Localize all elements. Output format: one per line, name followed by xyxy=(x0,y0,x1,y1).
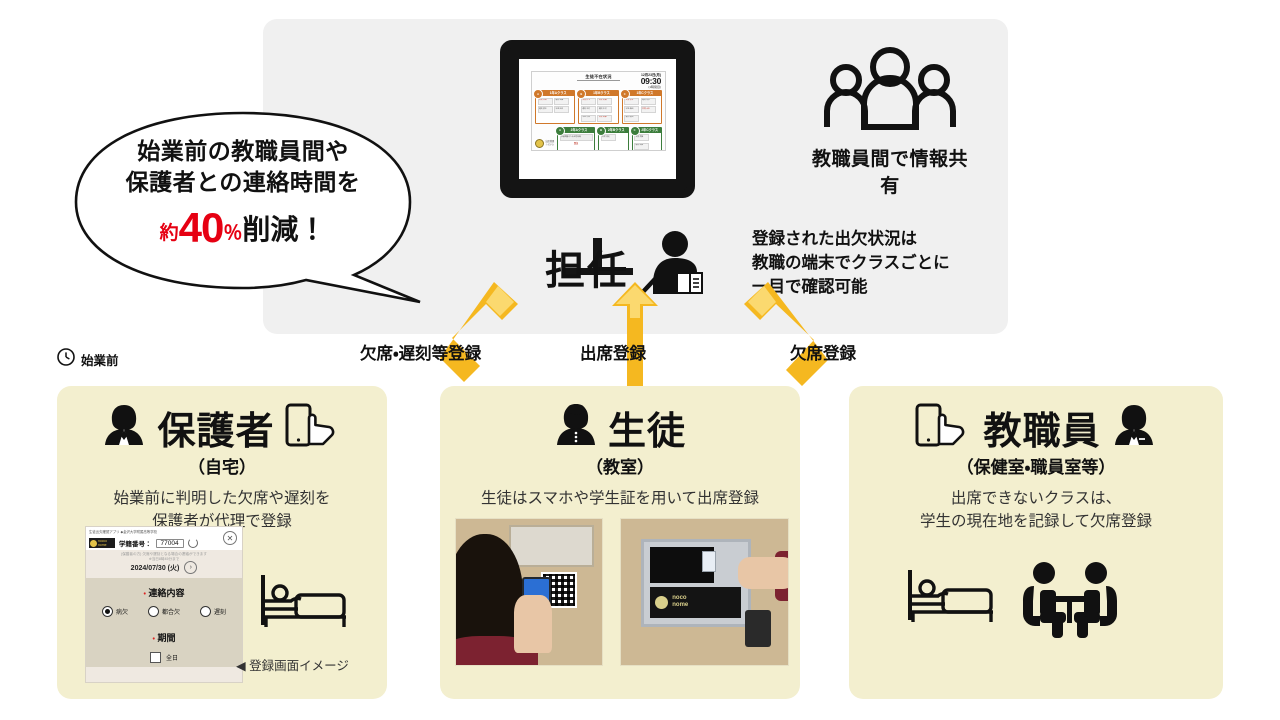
app-date-value[interactable]: 2024/07/30 (火) xyxy=(131,563,180,573)
staff-subtitle: （保健室・職員室等） xyxy=(849,453,1223,478)
phone-tap-icon-staff xyxy=(915,403,973,452)
checkbox-allday-icon[interactable] xyxy=(150,652,161,663)
staff-group-label: 教職員間で情報共有 xyxy=(810,144,970,198)
photo-card-reader: noco nome xyxy=(620,518,789,666)
student-status-chip[interactable]: 欠席 高橋 xyxy=(597,98,612,105)
photo-arm xyxy=(738,557,789,589)
monitor-illustration: 生徒不在状況 12月23日(月) 09:30 (1時間目) A1年Aクラス欠席 … xyxy=(500,40,695,198)
student-status-chip[interactable]: 遅刻 中村 xyxy=(597,106,612,113)
meeting-icon xyxy=(1018,560,1122,645)
student-status-chip[interactable]: 欠席 山本 xyxy=(641,106,656,113)
class-panel[interactable]: A1年Aクラス欠席 山田遅刻 佐藤遅刻 鈴木早退 田中 xyxy=(535,90,575,124)
guardian-title: 保護者 xyxy=(157,400,274,455)
class-panel[interactable]: C2年Cクラス欠席 斎藤遅刻 岡田早退 石川欠席 藤田遅刻 山口 xyxy=(632,127,663,152)
app-title: 生徒出欠確認アプリ ◆金沢大学附属高等学校 xyxy=(89,529,239,534)
refresh-icon[interactable] xyxy=(188,538,198,548)
pre-class-label: 始業前 xyxy=(81,350,119,369)
speech-bubble-text: 始業前の教職員間や 保護者との連絡時間を 約40％削減！ xyxy=(86,136,400,252)
photo-reader-panel: noco nome xyxy=(641,539,751,627)
app-logo-icon xyxy=(535,139,544,148)
class-panel[interactable]: A2年Aクラス学級閉鎖のため自宅待機至急 xyxy=(557,127,595,152)
student-status-chip[interactable]: 早退 田中 xyxy=(554,106,569,113)
student-avatar-icon xyxy=(554,402,598,453)
reader-logo-mark-icon xyxy=(655,596,668,609)
student-status-chip[interactable]: 遅刻 佐藤 xyxy=(554,98,569,105)
class-alert-note: 至急 xyxy=(560,141,593,145)
class-panel[interactable]: B2年Bクラス欠席 渡辺 xyxy=(598,127,629,152)
guardian-subtitle: （自宅） xyxy=(57,453,387,478)
photo-hand xyxy=(514,595,552,653)
chevron-right-icon[interactable]: › xyxy=(184,561,197,574)
guardian-caption: ◀ 登録画面イメージ xyxy=(236,655,349,674)
student-status-chip[interactable]: 欠席 加藤 xyxy=(597,115,612,122)
required-star-icon: • xyxy=(144,591,146,598)
staff-avatar-icon xyxy=(1111,402,1157,453)
class-badge: A xyxy=(555,126,565,136)
bubble-number: 40 xyxy=(179,204,224,251)
student-status-chip[interactable]: 遅刻 岡田 xyxy=(634,143,649,150)
guardian-card-header: 保護者 xyxy=(57,400,387,455)
period-title: • 期間 xyxy=(86,631,242,644)
student-id-input[interactable]: 77004 xyxy=(156,539,184,548)
student-card-header: 生徒 xyxy=(440,400,800,455)
class-student-list: 欠席 松本遅刻 清水早退 森田欠席 山本遅刻 池田 xyxy=(623,96,661,123)
student-title: 生徒 xyxy=(608,400,686,455)
staff-group-block: 教職員間で情報共有 xyxy=(810,47,970,198)
attendance-dashboard: 生徒不在状況 12月23日(月) 09:30 (1時間目) A1年Aクラス欠席 … xyxy=(531,71,666,151)
bubble-suffix: 削減！ xyxy=(242,214,326,245)
option-late[interactable]: 遅刻 xyxy=(200,606,226,617)
student-subtitle: （教室） xyxy=(440,453,800,478)
student-id-label: 学籍番号： xyxy=(119,538,152,548)
arrow-guardian-label: 欠席・遅刻等登録 xyxy=(360,340,481,364)
checkbox-allday-label: 全日 xyxy=(166,653,178,662)
dashboard-footer-logo: 出席管理 システム xyxy=(535,139,554,148)
bed-icon xyxy=(258,573,350,636)
option-personal[interactable]: 都合欠 xyxy=(148,606,180,617)
bed-icon-staff xyxy=(905,568,997,631)
app-logo: nocco nome xyxy=(89,538,115,548)
class-panel[interactable]: B1年Bクラス欠席 井上欠席 高橋遅刻 木村遅刻 中村早退 小林欠席 加藤 xyxy=(578,90,618,124)
app-logo-mark-icon xyxy=(90,540,97,547)
contact-reason-options: 病欠 都合欠 遅刻 xyxy=(86,606,242,617)
pre-class-indicator: 始業前 xyxy=(57,348,119,371)
radio-sick-icon[interactable] xyxy=(102,606,113,617)
student-status-chip[interactable]: 遅刻 清水 xyxy=(641,98,656,105)
staff-title: 教職員 xyxy=(983,400,1100,455)
arrow-staff-label: 欠席登録 xyxy=(790,340,856,364)
student-description: 生徒はスマホや学生証を用いて出席登録 xyxy=(440,487,800,510)
student-status-chip[interactable]: 早退 小林 xyxy=(581,115,596,122)
close-icon[interactable]: ✕ xyxy=(223,531,237,545)
photo-wall-scanner xyxy=(745,610,772,648)
photo-qr-scan xyxy=(455,518,603,666)
app-note: (保護者の方) 欠席や遅刻となる場合の連絡ができます ※当日8時45分まで xyxy=(86,550,242,561)
class-student-list: 学級閉鎖のため自宅待機至急 xyxy=(558,133,594,152)
class-badge: A xyxy=(533,89,543,99)
app-date-row: 2024/07/30 (火) › xyxy=(86,561,242,578)
staff-description: 出席できないクラスは、 学生の現在地を記録して欠席登録 xyxy=(849,487,1223,534)
guardian-avatar-icon xyxy=(101,402,147,453)
dashboard-title: 生徒不在状況 xyxy=(577,74,619,81)
app-id-row: nocco nome 学籍番号： 77004 xyxy=(86,536,242,550)
radio-late-icon[interactable] xyxy=(200,606,211,617)
staff-card-header: 教職員 xyxy=(849,400,1223,455)
dashboard-footer-text: 出席管理 システム xyxy=(546,141,555,146)
contact-reason-title: • 連絡内容 xyxy=(86,586,242,599)
class-student-list: 欠席 井上欠席 高橋遅刻 木村遅刻 中村早退 小林欠席 加藤 xyxy=(579,96,617,123)
bubble-highlight-line: 約40％削減！ xyxy=(86,204,400,252)
class-badge: C xyxy=(630,126,640,136)
contact-reason-section: • 連絡内容 病欠 都合欠 遅刻 • 期間 全日 xyxy=(86,578,242,667)
dashboard-header: 生徒不在状況 12月23日(月) 09:30 (1時間目) xyxy=(535,74,662,90)
people-group-icon xyxy=(815,118,965,135)
arrow-student-label: 出席登録 xyxy=(580,340,646,364)
photo-student-card xyxy=(702,551,716,573)
guardian-app-screenshot[interactable]: 生徒出欠確認アプリ ◆金沢大学附属高等学校 nocco nome 学籍番号： 7… xyxy=(85,526,243,683)
bubble-percent: ％ xyxy=(223,223,242,244)
radio-personal-icon[interactable] xyxy=(148,606,159,617)
option-sick[interactable]: 病欠 xyxy=(102,606,128,617)
card-staff: 教職員 （保健室・職員室等） 出席できないクラスは、 学生の現在地を記録して欠席… xyxy=(849,386,1223,699)
student-status-chip[interactable]: 遅刻 池田 xyxy=(624,115,639,122)
bubble-line-2: 保護者との連絡時間を xyxy=(86,167,400,198)
app-topbar: 生徒出欠確認アプリ ◆金沢大学附属高等学校 xyxy=(86,527,242,536)
monitor-bezel: 生徒不在状況 12月23日(月) 09:30 (1時間目) A1年Aクラス欠席 … xyxy=(500,40,695,198)
monitor-screen: 生徒不在状況 12月23日(月) 09:30 (1時間目) A1年Aクラス欠席 … xyxy=(516,56,679,182)
photo-reader-logo: noco nome xyxy=(650,587,741,618)
phone-tap-icon xyxy=(285,403,343,452)
dashboard-row: A1年Aクラス欠席 山田遅刻 佐藤遅刻 鈴木早退 田中B1年Bクラス欠席 井上欠… xyxy=(535,90,662,124)
bubble-approx: 約 xyxy=(160,223,179,244)
class-panel[interactable]: C1年Cクラス欠席 松本遅刻 清水早退 森田欠席 山本遅刻 池田 xyxy=(622,90,662,124)
required-star-icon-2: • xyxy=(153,636,155,643)
student-status-chip[interactable]: 早退 森田 xyxy=(624,106,639,113)
student-status-chip[interactable]: 遅刻 鈴木 xyxy=(538,106,553,113)
class-student-list: 欠席 山田遅刻 佐藤遅刻 鈴木早退 田中 xyxy=(536,96,574,121)
student-status-chip[interactable]: 遅刻 木村 xyxy=(581,106,596,113)
period-allday-row[interactable]: 全日 xyxy=(86,652,242,663)
clock-icon xyxy=(57,348,75,371)
dashboard-period: (1時間目) xyxy=(641,86,661,89)
student-status-chip[interactable]: 学級閉鎖のため自宅待機 xyxy=(560,134,593,141)
class-badge: C xyxy=(620,89,630,99)
speech-bubble: 始業前の教職員間や 保護者との連絡時間を 約40％削減！ xyxy=(48,110,438,305)
class-badge: B xyxy=(596,126,606,136)
app-logo-text: nocco nome xyxy=(98,539,107,547)
reader-logo-text: noco nome xyxy=(672,595,688,610)
dashboard-clock: 12月23日(月) 09:30 (1時間目) xyxy=(641,74,661,89)
bubble-line-1: 始業前の教職員間や xyxy=(86,136,400,167)
photo-window xyxy=(509,525,595,567)
